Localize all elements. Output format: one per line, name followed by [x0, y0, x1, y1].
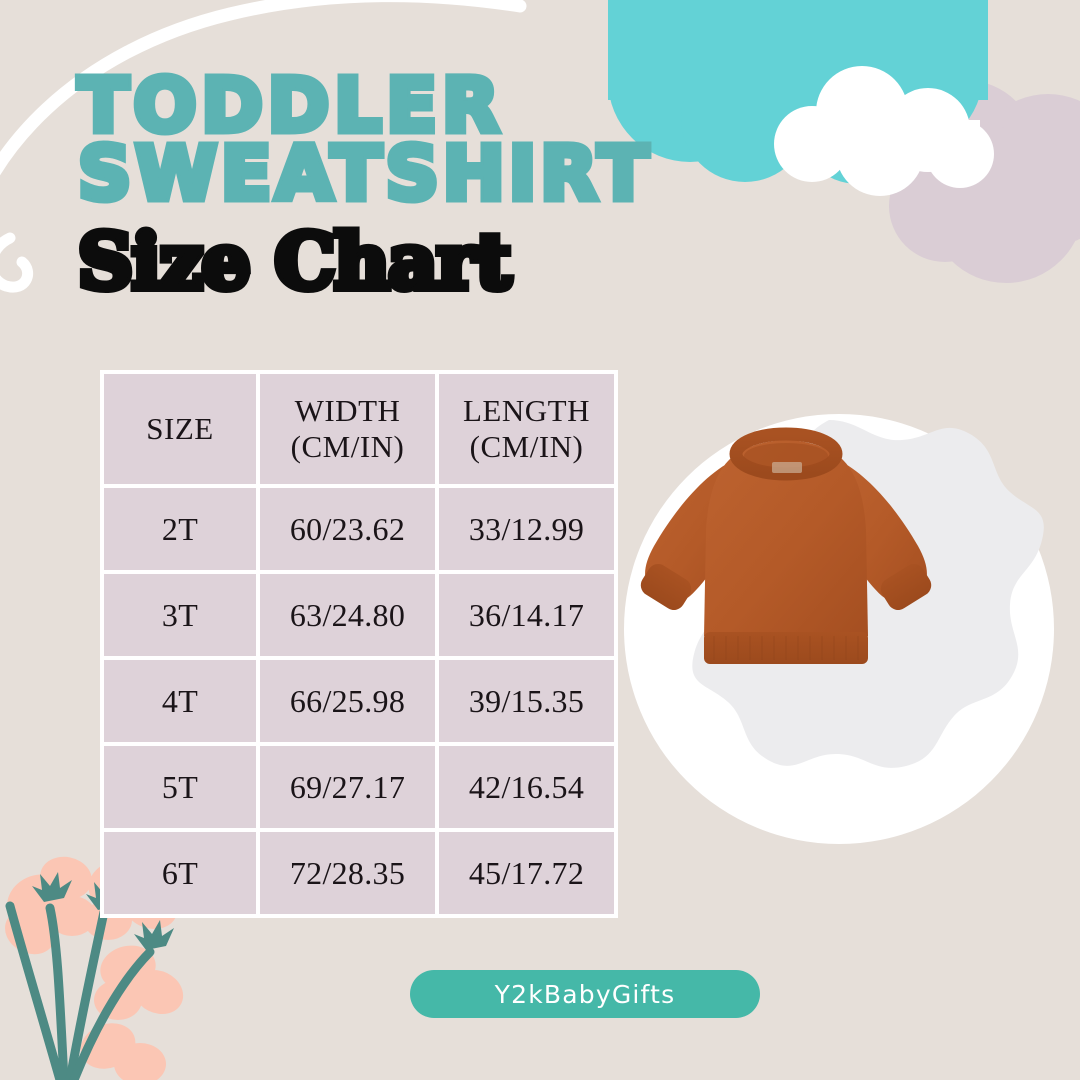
table-header-row: SIZE WIDTH (CM/IN) LENGTH (CM/IN) [104, 374, 614, 484]
column-header-width-label: WIDTH [295, 393, 401, 428]
cell-length: 39/15.35 [439, 660, 614, 742]
table-row: 2T 60/23.62 33/12.99 [104, 488, 614, 570]
sweatshirt-neck-tag [772, 462, 802, 473]
column-header-length: LENGTH (CM/IN) [439, 374, 614, 484]
cell-length: 36/14.17 [439, 574, 614, 656]
cell-length: 33/12.99 [439, 488, 614, 570]
size-chart-table: SIZE WIDTH (CM/IN) LENGTH (CM/IN) 2T 60/… [100, 370, 618, 918]
page-subtitle: Size Chart [78, 224, 778, 300]
swoosh-hook-icon [0, 238, 28, 287]
cell-size: 2T [104, 488, 256, 570]
cell-width: 60/23.62 [260, 488, 435, 570]
cell-width: 66/25.98 [260, 660, 435, 742]
table-row: 6T 72/28.35 45/17.72 [104, 832, 614, 914]
sweatshirt-image [620, 410, 950, 700]
column-header-length-label: LENGTH [463, 393, 590, 428]
product-image-frame [620, 410, 1058, 848]
cell-width: 69/27.17 [260, 746, 435, 828]
cell-size: 4T [104, 660, 256, 742]
title-line-1: TODDLER [78, 72, 778, 140]
title-line-2: SWEATSHIRT [78, 140, 778, 208]
column-header-length-units: (CM/IN) [439, 429, 614, 465]
table-row: 4T 66/25.98 39/15.35 [104, 660, 614, 742]
cell-width: 72/28.35 [260, 832, 435, 914]
page-title: TODDLER SWEATSHIRT Size Chart [78, 72, 778, 300]
cell-size: 5T [104, 746, 256, 828]
cell-size: 6T [104, 832, 256, 914]
column-header-size: SIZE [104, 374, 256, 484]
size-chart-canvas: TODDLER SWEATSHIRT Size Chart SIZE WIDTH… [0, 0, 1080, 1080]
column-header-width: WIDTH (CM/IN) [260, 374, 435, 484]
column-header-width-units: (CM/IN) [260, 429, 435, 465]
table-row: 5T 69/27.17 42/16.54 [104, 746, 614, 828]
cell-width: 63/24.80 [260, 574, 435, 656]
cell-length: 45/17.72 [439, 832, 614, 914]
cell-length: 42/16.54 [439, 746, 614, 828]
brand-badge[interactable]: Y2kBabyGifts [410, 970, 760, 1018]
column-header-size-label: SIZE [146, 411, 213, 446]
cell-size: 3T [104, 574, 256, 656]
table-row: 3T 63/24.80 36/14.17 [104, 574, 614, 656]
brand-badge-label: Y2kBabyGifts [495, 980, 676, 1009]
